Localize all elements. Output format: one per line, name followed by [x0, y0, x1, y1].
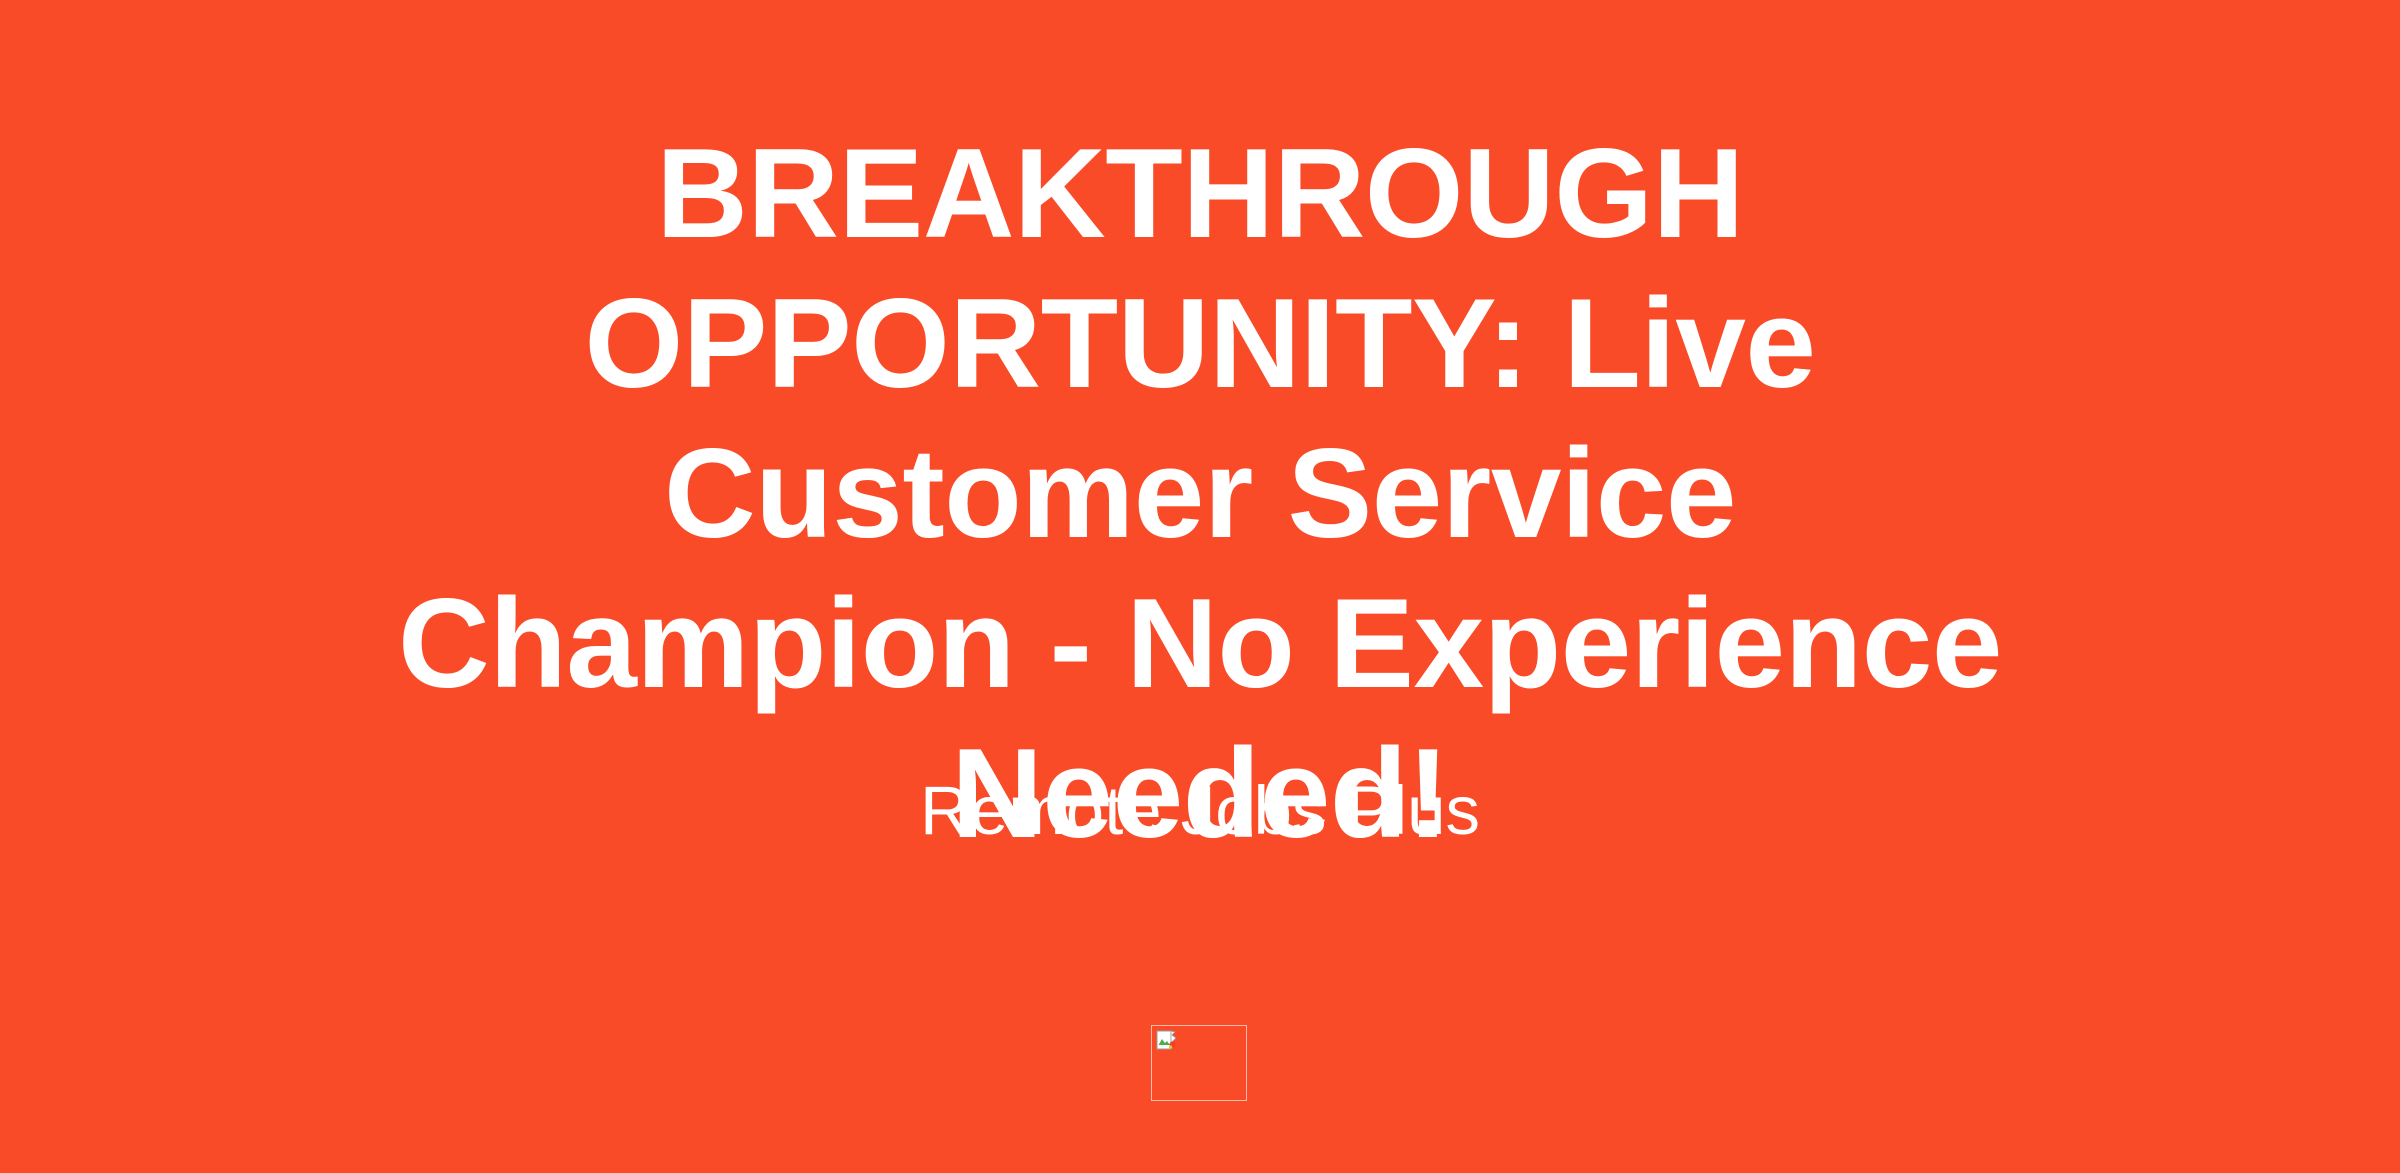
broken-image-icon [1156, 1030, 1178, 1050]
brand-image-container [1151, 1025, 1249, 1103]
page-title: BREAKTHROUGH OPPORTUNITY: Live Customer … [350, 118, 2050, 868]
broken-image-placeholder[interactable] [1151, 1025, 1247, 1101]
company-name: Remote Jobs Plus [250, 768, 2150, 854]
job-posting-slide: BREAKTHROUGH OPPORTUNITY: Live Customer … [0, 0, 2400, 1173]
